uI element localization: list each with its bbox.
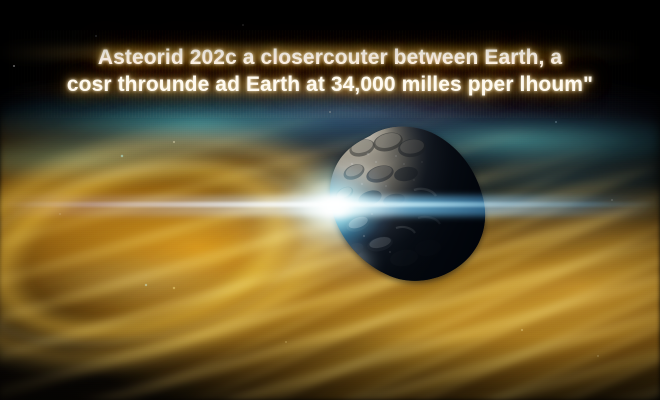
image-canvas: Asteorid 202c a closercouter between Ear…	[0, 0, 660, 400]
headline-line-1: Asteorid 202c a closercouter between Ear…	[98, 47, 562, 70]
asteroid-surface	[286, 118, 494, 288]
headline-line-2: cosr throunde ad Earth at 34,000 milles …	[67, 74, 593, 97]
asteroid	[318, 118, 494, 288]
headline-block: Asteorid 202c a closercouter between Ear…	[0, 26, 660, 118]
